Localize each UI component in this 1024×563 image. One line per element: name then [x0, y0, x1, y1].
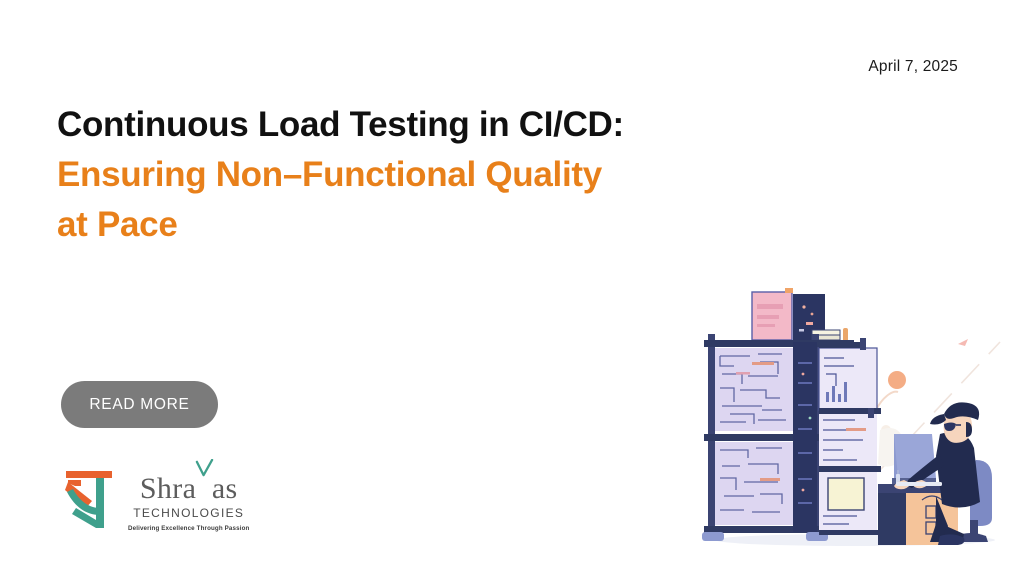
title-line-3: at Pace: [57, 200, 717, 250]
brand-logo[interactable]: Shra v as TECHNOLOGIES Delivering Excell…: [62, 468, 249, 532]
server-rack-right: [819, 338, 881, 535]
title-line-1: Continuous Load Testing in CI/CD:: [57, 100, 717, 150]
title-line-2: Ensuring Non–Functional Quality: [57, 150, 717, 200]
devanagari-shra-logo-icon: [62, 468, 120, 530]
check-mark-icon: [195, 459, 214, 478]
logo-tagline: Delivering Excellence Through Passion: [128, 525, 249, 532]
logo-check-slot: v: [196, 474, 211, 504]
desk-and-developer: [878, 402, 992, 545]
logo-word-shravas: Shra v as: [140, 474, 238, 504]
logo-subtitle: TECHNOLOGIES: [133, 506, 244, 520]
blog-promo-slide: April 7, 2025 Continuous Load Testing in…: [0, 0, 1024, 563]
read-more-button[interactable]: READ MORE: [61, 381, 218, 428]
page-title: Continuous Load Testing in CI/CD: Ensuri…: [57, 100, 717, 250]
logo-word-part-1: Shra: [140, 474, 197, 504]
logo-word-part-2: as: [212, 474, 238, 504]
developer-at-desk-with-server-racks-illustration: [700, 282, 1016, 554]
publish-date: April 7, 2025: [868, 58, 958, 76]
logo-wordmark: Shra v as TECHNOLOGIES Delivering Excell…: [128, 468, 249, 532]
